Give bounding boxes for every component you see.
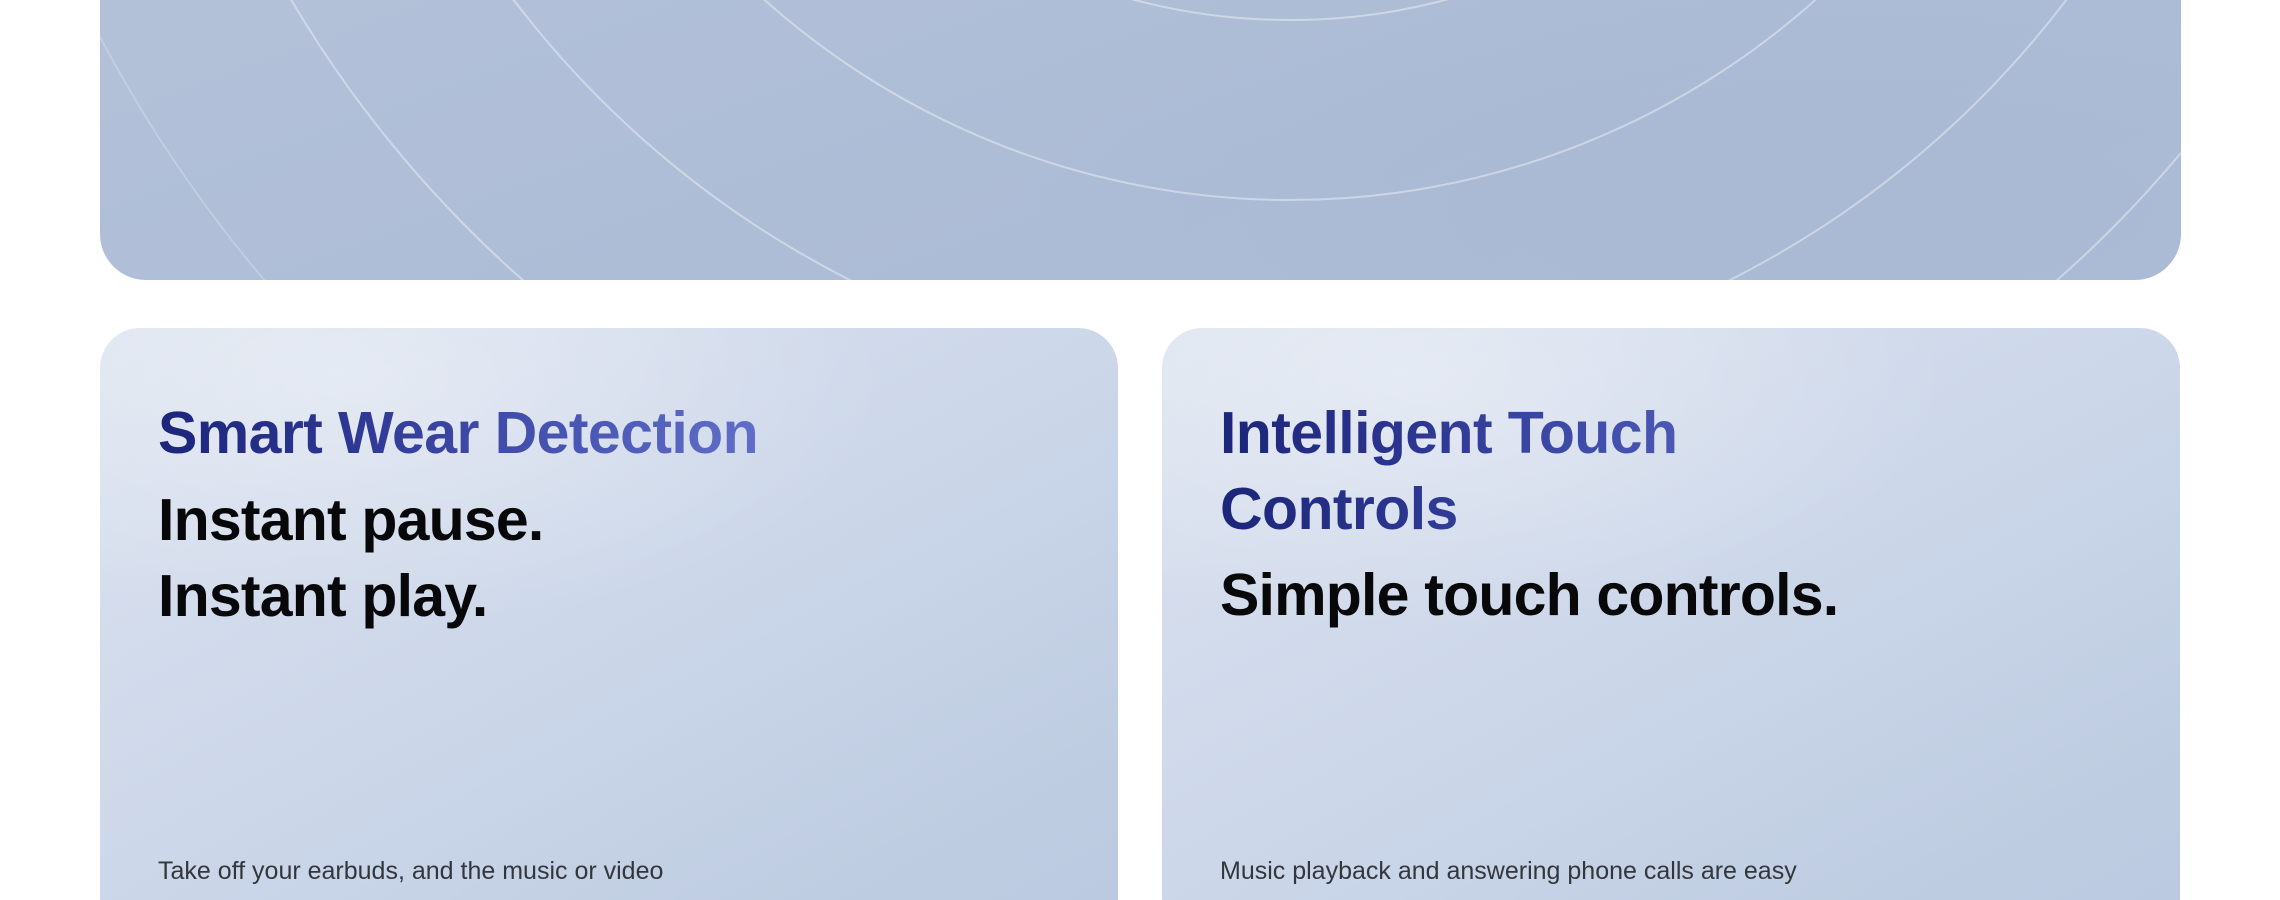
card-content: Smart Wear Detection Instant pause. Inst… [158,396,1060,635]
product-hero-banner [100,0,2181,280]
card-headline: Instant pause. Instant play. [158,482,1060,635]
card-content: Intelligent Touch Controls Simple touch … [1220,396,2122,634]
card-eyebrow-title: Smart Wear Detection [158,396,758,472]
decorative-arc-lines [100,0,2181,280]
card-body-text: Take off your earbuds, and the music or … [158,852,1070,890]
feature-cards-row: Smart Wear Detection Instant pause. Inst… [100,328,2181,900]
feature-card-smart-wear-detection[interactable]: Smart Wear Detection Instant pause. Inst… [100,328,1118,900]
product-page-viewport: Smart Wear Detection Instant pause. Inst… [0,0,2280,900]
hero-background-sheen [100,0,2181,280]
card-body-text: Music playback and answering phone calls… [1220,852,2132,890]
card-eyebrow-title: Intelligent Touch Controls [1220,396,1860,547]
card-headline: Simple touch controls. [1220,557,2122,634]
feature-card-intelligent-touch-controls[interactable]: Intelligent Touch Controls Simple touch … [1162,328,2180,900]
